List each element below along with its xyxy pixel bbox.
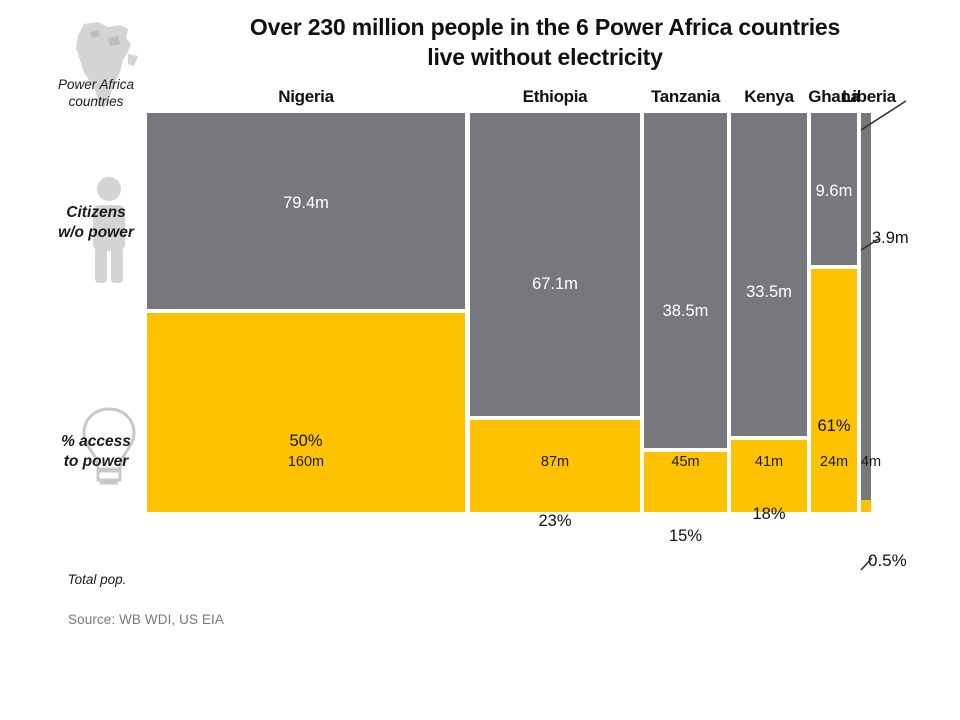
value-access-ethiopia: 23% [470,512,640,531]
chart-column-ghana: 9.6m61%24m [811,113,857,512]
value-access-kenya: 18% [731,505,807,524]
value-access-ghana: 61% [811,417,857,436]
row-label-countries-line1: Power Africa [58,77,134,92]
column-header-kenya: Kenya [731,87,807,109]
segment-access-ghana: 61% [811,269,857,512]
segment-no-power-liberia [861,113,871,500]
column-header-liberia: Liberia [839,87,899,109]
title-line-1: Over 230 million people in the 6 Power A… [150,12,940,42]
total-pop-ghana: 24m [811,454,857,470]
segment-no-power-ethiopia: 67.1m [470,113,640,420]
page-title: Over 230 million people in the 6 Power A… [150,12,940,73]
callout-liberia-access: 0.5% [868,551,907,571]
value-no-power-ethiopia: 67.1m [470,275,640,294]
column-header-tanzania: Tanzania [644,87,727,109]
segment-no-power-kenya: 33.5m [731,113,807,440]
total-pop-liberia: 4m [853,454,889,470]
column-header-nigeria: Nigeria [147,87,465,109]
chart-column-kenya: 33.5m18%41m [731,113,807,512]
source-note: Source: WB WDI, US EIA [68,612,224,627]
value-access-tanzania: 15% [644,527,727,546]
column-header-ethiopia: Ethiopia [470,87,640,109]
segment-access-nigeria: 50% [147,313,465,513]
value-no-power-nigeria: 79.4m [147,194,465,213]
value-no-power-tanzania: 38.5m [644,302,727,321]
value-no-power-kenya: 33.5m [731,283,807,302]
row-label-access-line2: to power [64,453,129,470]
row-label-percent-access-to-power: % access to power [32,432,160,472]
segment-no-power-ghana: 9.6m [811,113,857,269]
total-pop-kenya: 41m [731,454,807,470]
row-label-countries-line2: countries [69,94,124,109]
chart-column-ethiopia: 67.1m23%87m [470,113,640,512]
value-access-nigeria: 50% [147,432,465,451]
value-no-power-ghana: 9.6m [811,182,857,201]
row-label-citizens-line2: w/o power [58,224,134,241]
segment-no-power-nigeria: 79.4m [147,113,465,313]
total-pop-tanzania: 45m [644,454,727,470]
chart-column-liberia: 4m [861,113,871,512]
row-label-citizens-without-power: Citizens w/o power [32,203,160,243]
segment-no-power-tanzania: 38.5m [644,113,727,452]
marimekko-chart: Nigeria79.4m50%160mEthiopia67.1m23%87mTa… [147,87,947,587]
row-label-total-population: Total pop. [38,571,156,588]
segment-access-kenya: 18% [731,440,807,512]
chart-column-nigeria: 79.4m50%160m [147,113,465,512]
title-line-2: live without electricity [150,42,940,72]
total-pop-ethiopia: 87m [470,454,640,470]
chart-column-tanzania: 38.5m15%45m [644,113,727,512]
segment-access-liberia [861,500,871,512]
total-pop-nigeria: 160m [147,454,465,470]
callout-liberia-no-power: 3.9m [872,229,909,248]
row-label-access-line1: % access [61,433,131,450]
row-label-power-africa-countries: Power Africa countries [35,76,157,111]
row-label-citizens-line1: Citizens [66,204,125,221]
